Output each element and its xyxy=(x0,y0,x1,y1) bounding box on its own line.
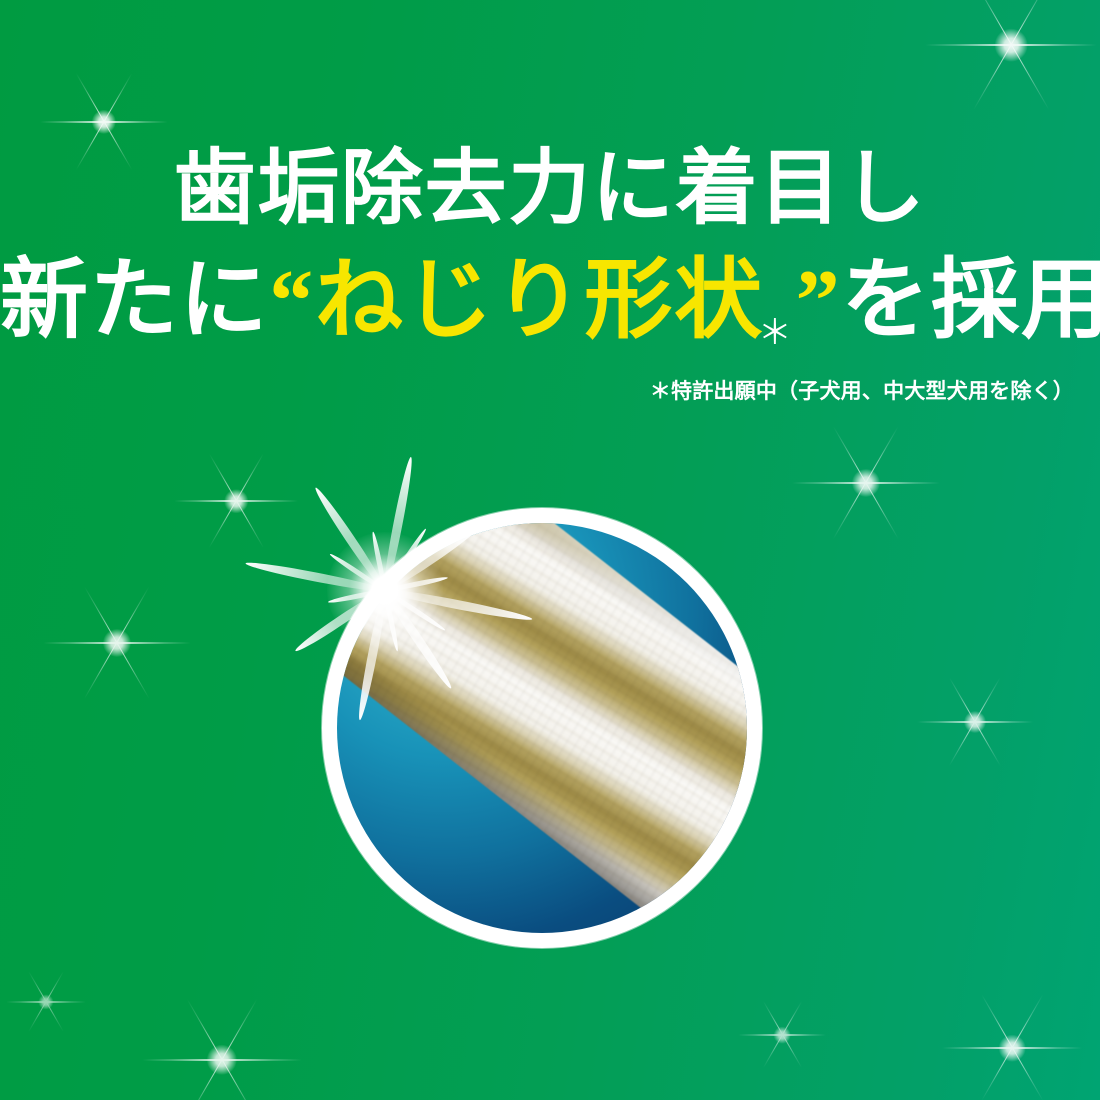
sparkle-ray xyxy=(973,0,1049,110)
sparkle-ray xyxy=(981,995,1043,1100)
sparkle-ray xyxy=(84,587,150,700)
sparkle-ray xyxy=(187,999,258,1100)
headline-emphasis: ねじり形状 xyxy=(315,253,764,350)
sparkle-ray xyxy=(142,1059,302,1060)
headline-line-1: 歯垢除去力に着目し xyxy=(0,148,1100,230)
twisted-chew-stick xyxy=(337,523,747,933)
sparkle-ray xyxy=(762,1001,801,1068)
sparkle-ray xyxy=(981,995,1043,1100)
headline-line-1-text: 歯垢除去力に着目し xyxy=(174,143,927,234)
sparkle-core xyxy=(964,711,986,733)
sparkle-mid-left xyxy=(43,569,191,717)
sparkle-core xyxy=(224,489,248,513)
sparkle-core xyxy=(774,1027,791,1044)
headline-prefix: 新たに xyxy=(0,253,269,350)
sparkle-bottom-right xyxy=(942,978,1082,1100)
sparkle-ray xyxy=(792,482,940,483)
sparkle-ray xyxy=(949,678,1001,766)
inset-photo-disc xyxy=(337,523,747,933)
quote-close: ” xyxy=(796,253,842,350)
sparkle-ray xyxy=(43,642,191,643)
sparkle-ray xyxy=(973,0,1049,110)
headline-suffix: を採用！ xyxy=(841,253,1100,350)
sparkle-right-lower xyxy=(917,664,1033,780)
sparkle-ray xyxy=(833,427,899,540)
sparkle-ray xyxy=(949,678,1001,766)
sparkle-ray xyxy=(833,427,899,540)
sparkle-ray xyxy=(917,721,1033,722)
sparkle-core xyxy=(995,29,1028,62)
headline-line-2: 新たに“ねじり形状＊”を採用！ xyxy=(0,258,1100,350)
sparkle-ray xyxy=(28,971,64,1032)
product-closeup-inset xyxy=(322,508,762,948)
sparkle-left-faint xyxy=(6,962,86,1042)
sparkle-top-right xyxy=(925,0,1097,131)
patent-footnote: ＊特許出願中（子犬用、中大型犬用を除く） xyxy=(650,375,1074,405)
sparkle-ray xyxy=(942,1047,1082,1048)
sparkle-core xyxy=(103,629,131,657)
sparkle-ray xyxy=(738,1034,826,1035)
sparkle-core xyxy=(207,1045,237,1075)
sparkle-ray xyxy=(40,121,168,122)
sparkle-ray xyxy=(6,1001,86,1002)
sparkle-core xyxy=(852,469,880,497)
sparkle-ray xyxy=(208,454,263,549)
sparkle-ray xyxy=(762,1001,801,1068)
sparkle-ray xyxy=(174,500,298,501)
product-promo-poster: 歯垢除去力に着目し 新たに“ねじり形状＊”を採用！ ＊特許出願中（子犬用、中大型… xyxy=(0,0,1100,1100)
sparkle-bottom-left xyxy=(142,980,302,1100)
chew-texture-grain xyxy=(337,523,747,933)
sparkle-core xyxy=(92,110,116,134)
sparkle-core xyxy=(999,1035,1026,1062)
sparkle-upper-mid xyxy=(174,439,298,563)
sparkle-bottom-mid xyxy=(738,991,826,1079)
sparkle-core xyxy=(38,994,53,1009)
sparkle-ray xyxy=(187,999,258,1100)
sparkle-ray xyxy=(925,44,1097,45)
sparkle-ray xyxy=(28,971,64,1032)
sparkle-right-upper xyxy=(792,409,940,557)
sparkle-ray xyxy=(84,587,150,700)
quote-open: “ xyxy=(269,253,315,350)
sparkle-ray xyxy=(208,454,263,549)
asterisk-reference-mark: ＊ xyxy=(758,314,794,352)
